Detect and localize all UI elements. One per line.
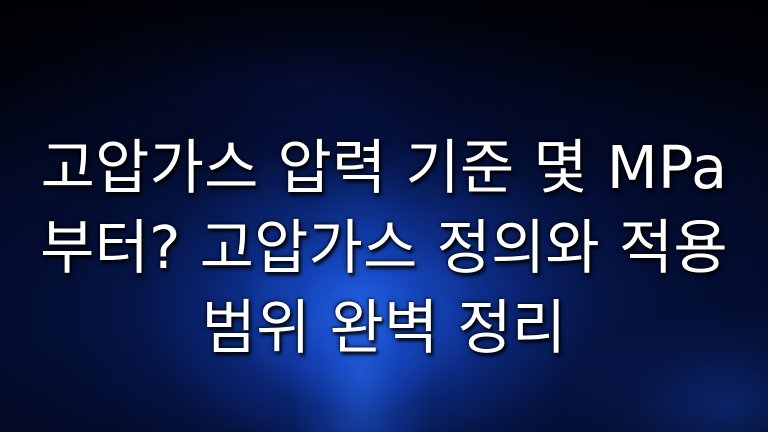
title-card-canvas: 고압가스 압력 기준 몇 MPa 부터? 고압가스 정의와 적용 범위 완벽 정… bbox=[0, 0, 768, 432]
title-line-3: 범위 완벽 정리 bbox=[0, 288, 768, 368]
page-title: 고압가스 압력 기준 몇 MPa 부터? 고압가스 정의와 적용 범위 완벽 정… bbox=[0, 128, 768, 368]
title-line-1: 고압가스 압력 기준 몇 MPa bbox=[0, 128, 768, 208]
title-line-2: 부터? 고압가스 정의와 적용 bbox=[0, 208, 768, 288]
